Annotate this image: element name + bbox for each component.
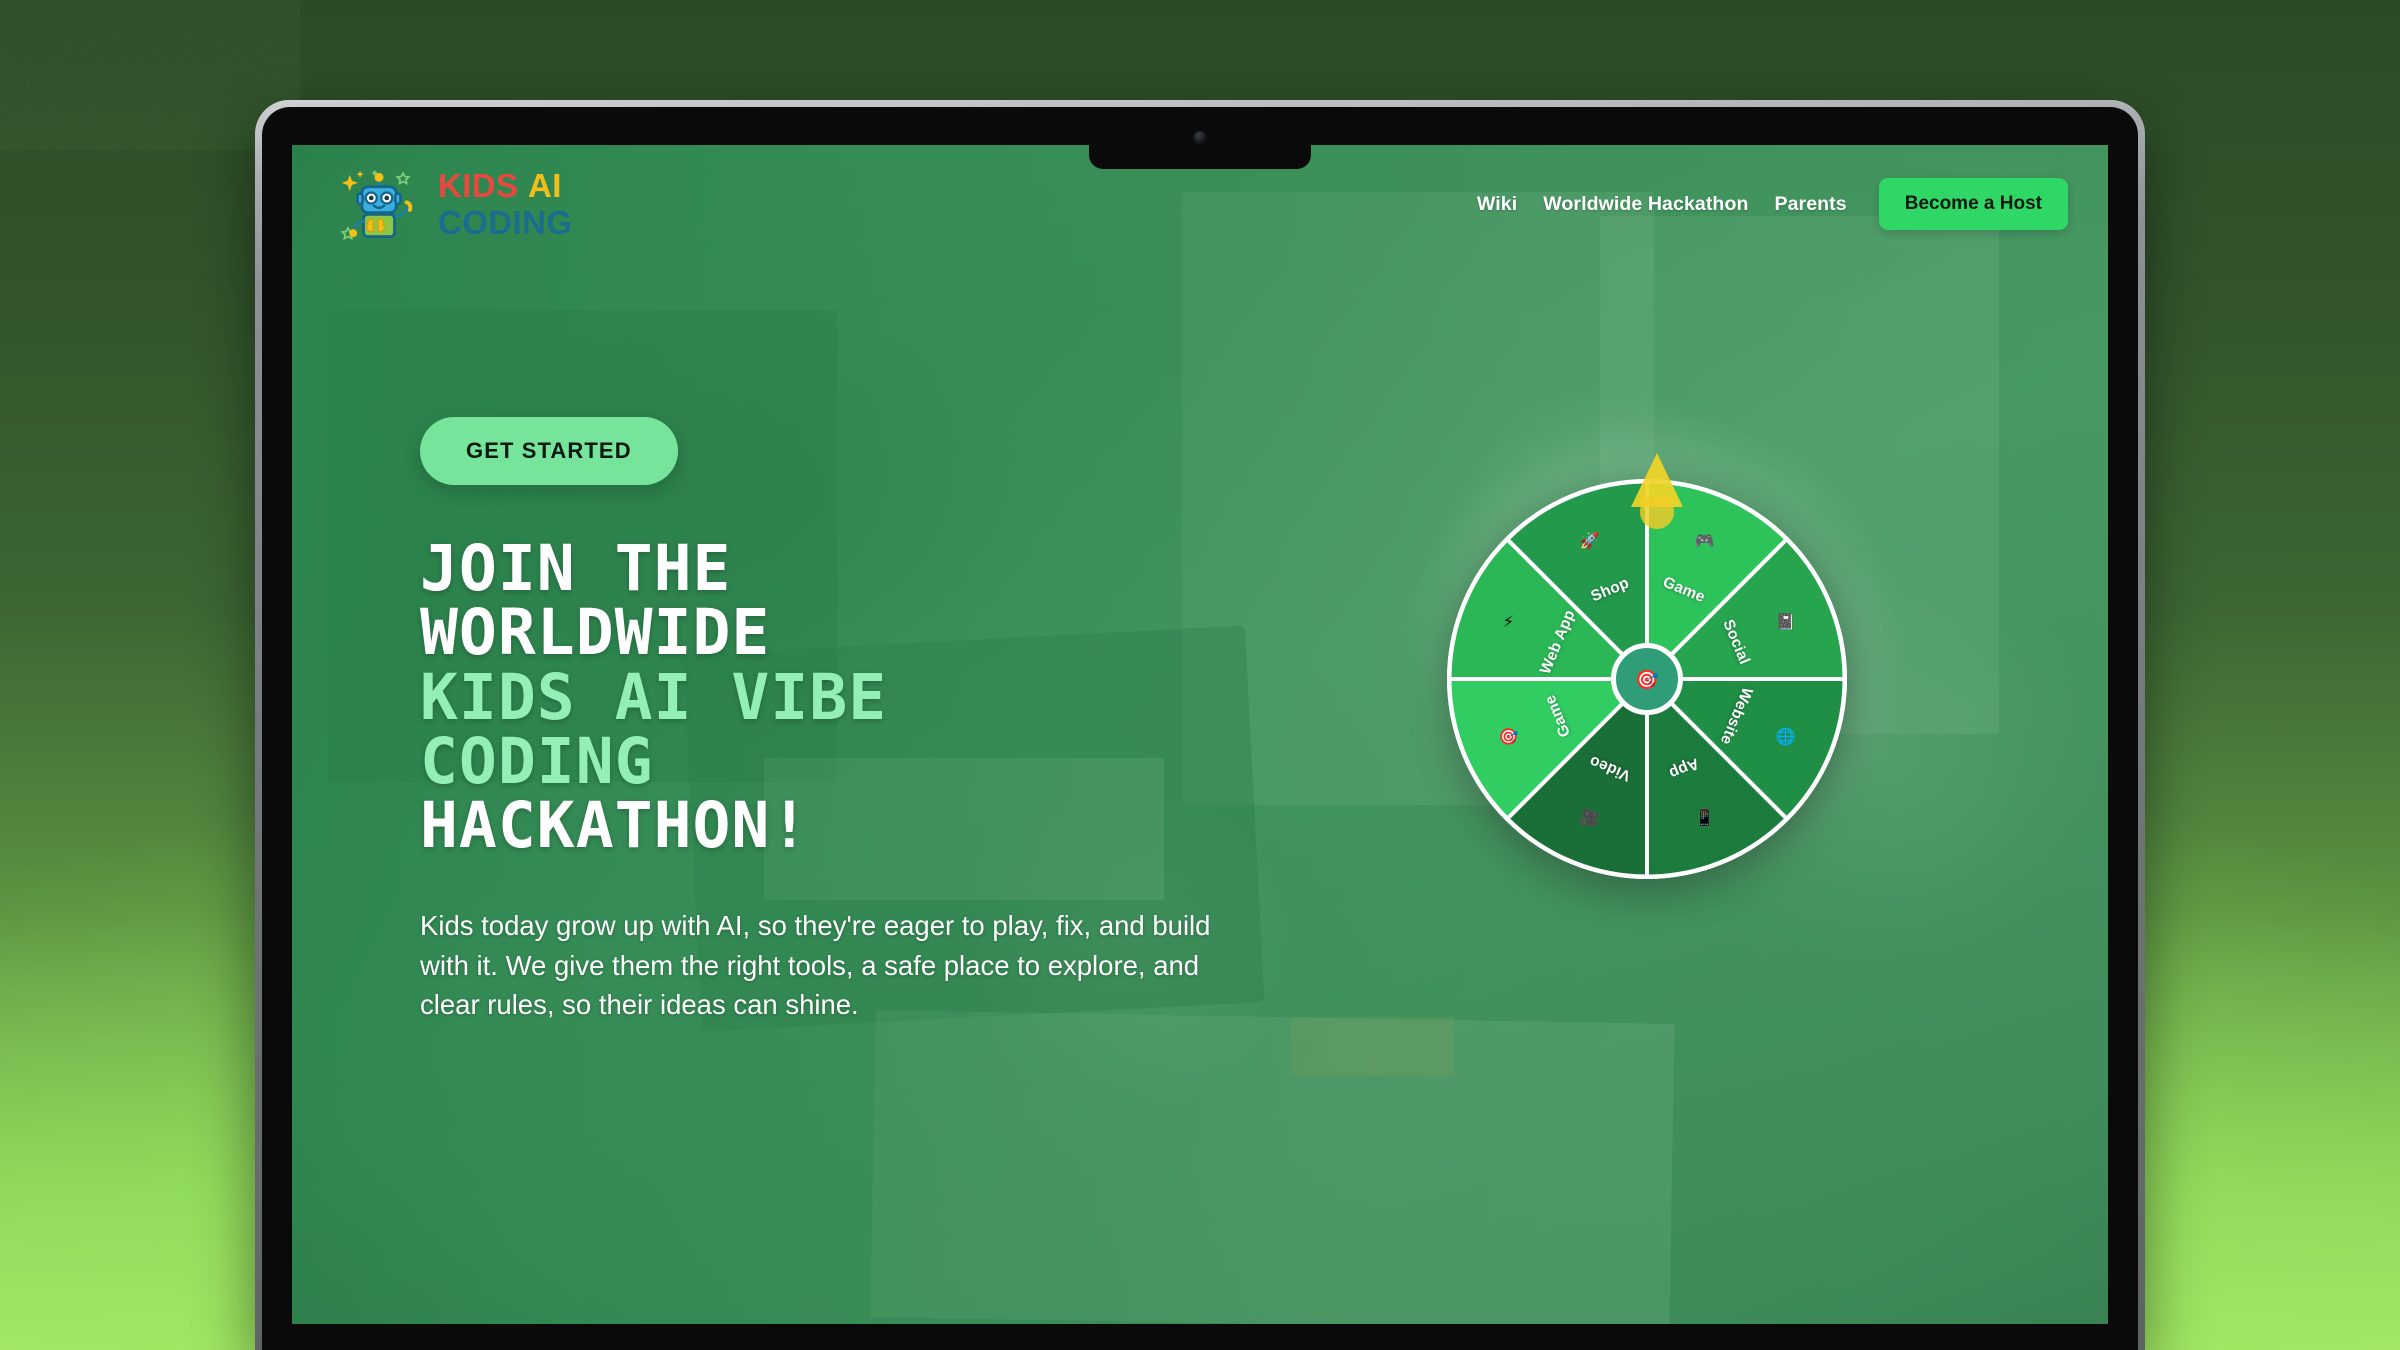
laptop-device: KIDS AI CODING Wiki Worldwide Hackathon … [255, 100, 2145, 1350]
become-a-host-button[interactable]: Become a Host [1879, 178, 2068, 230]
brand-ai-text: AI [528, 167, 562, 204]
wheel-disc[interactable]: Game🎮Social📓Website🌐App📱Video🎥Game🎯Web A… [1447, 479, 1847, 879]
robot-mascot-icon [336, 161, 422, 247]
brand-wordmark: KIDS AI CODING [438, 169, 572, 239]
hero-paragraph: Kids today grow up with AI, so they're e… [420, 906, 1220, 1024]
page-backdrop: KIDS AI CODING Wiki Worldwide Hackathon … [0, 0, 2400, 1350]
headline-line-3: KIDS AI VIBE [420, 666, 1240, 730]
browser-screen: KIDS AI CODING Wiki Worldwide Hackathon … [292, 145, 2108, 1324]
nav-link-worldwide-hackathon[interactable]: Worldwide Hackathon [1543, 193, 1748, 216]
get-started-button[interactable]: GET STARTED [420, 417, 678, 485]
pointer-knob [1640, 495, 1674, 529]
webcam-icon [1194, 131, 1207, 144]
headline-line-2: WORLDWIDE [420, 601, 1240, 665]
brand-coding-text: CODING [438, 204, 572, 241]
headline-line-5: HACKATHON! [420, 794, 1240, 858]
hero-content: GET STARTED JOIN THE WORLDWIDE KIDS AI V… [420, 417, 1240, 1024]
page-title: JOIN THE WORLDWIDE KIDS AI VIBE CODING H… [420, 537, 1240, 858]
brand-logo[interactable]: KIDS AI CODING [336, 161, 572, 247]
prize-wheel[interactable]: Game🎮Social📓Website🌐App📱Video🎥Game🎯Web A… [1447, 443, 1867, 863]
nav-link-parents[interactable]: Parents [1774, 193, 1846, 216]
headline-line-1: JOIN THE [420, 537, 1240, 601]
brand-kids-text: KIDS [438, 167, 518, 204]
laptop-bezel: KIDS AI CODING Wiki Worldwide Hackathon … [262, 107, 2138, 1350]
laptop-notch [1089, 107, 1311, 169]
laptop-lid: KIDS AI CODING Wiki Worldwide Hackathon … [255, 100, 2145, 1350]
nav-link-wiki[interactable]: Wiki [1477, 193, 1517, 216]
hero-section: GET STARTED JOIN THE WORLDWIDE KIDS AI V… [292, 145, 2108, 1324]
primary-navigation: Wiki Worldwide Hackathon Parents Become … [1477, 178, 2074, 230]
headline-line-4: CODING [420, 730, 1240, 794]
dart-target-icon: 🎯 [1635, 668, 1659, 691]
wheel-hub[interactable]: 🎯 [1611, 643, 1683, 715]
